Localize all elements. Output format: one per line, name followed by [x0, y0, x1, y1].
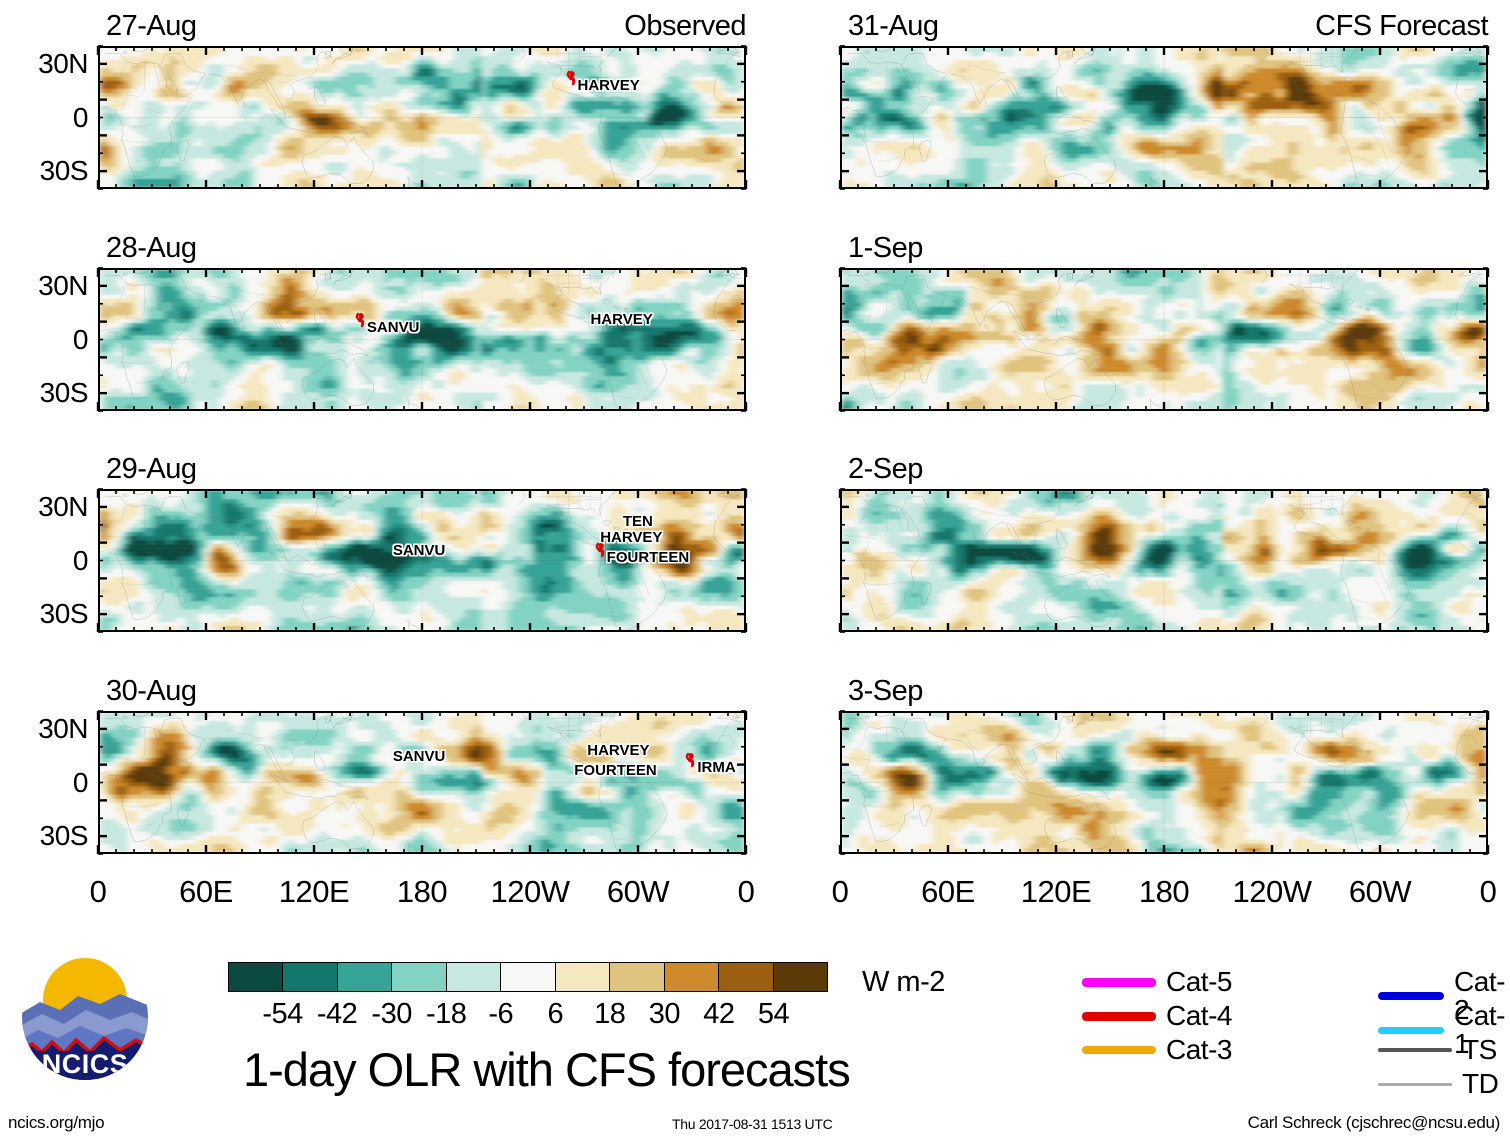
colorbar-tick-18: 18 — [594, 1000, 625, 1029]
panel-date-29-aug: 29-Aug — [106, 455, 197, 484]
x-tick-0: 0 — [738, 876, 755, 907]
legend-line-cat-5 — [1082, 978, 1156, 987]
colorbar-swatch-5 — [501, 963, 555, 991]
map-panel-27-aug — [98, 46, 746, 189]
observed-header: Observed — [98, 12, 746, 41]
legend-label-cat-4: Cat-4 — [1166, 1002, 1232, 1030]
storm-label-irma: IRMA — [697, 760, 735, 775]
colorbar-swatch-7 — [610, 963, 664, 991]
legend-label-td: TD — [1462, 1070, 1498, 1098]
legend-item-td[interactable]: TD — [1378, 1070, 1498, 1098]
storm-label-fourteen: FOURTEEN — [574, 763, 657, 778]
map-panel-1-sep — [840, 268, 1488, 411]
x-tick-60e: 60E — [921, 876, 975, 907]
colorbar-swatch-3 — [392, 963, 446, 991]
colorbar-swatch-1 — [283, 963, 337, 991]
footer-center: Thu 2017-08-31 1513 UTC — [672, 1116, 832, 1133]
storm-label-fourteen: FOURTEEN — [607, 550, 690, 565]
y-axis-label-0: 0 — [0, 769, 88, 797]
x-tick-0: 0 — [832, 876, 849, 907]
colorbar-tick--6: -6 — [488, 1000, 513, 1029]
legend-line-td — [1378, 1083, 1452, 1086]
storm-label-sanvu: SANVU — [367, 320, 420, 335]
y-axis-label-30n: 30N — [0, 715, 88, 743]
legend-label-cat-3: Cat-3 — [1166, 1036, 1232, 1064]
figure-title: 1-day OLR with CFS forecasts — [243, 1046, 850, 1093]
x-tick-120w: 120W — [1233, 876, 1312, 907]
panel-date-30-aug: 30-Aug — [106, 677, 197, 706]
legend-item-cat-5[interactable]: Cat-5 — [1082, 968, 1232, 996]
colorbar-tick-30: 30 — [649, 1000, 680, 1029]
legend-line-cat-2 — [1378, 992, 1444, 1000]
map-panel-3-sep — [840, 711, 1488, 854]
x-axis-labels: 060E120E180120W60W0 — [840, 876, 1488, 910]
y-axis-label-0: 0 — [0, 104, 88, 132]
colorbar-swatch-4 — [447, 963, 501, 991]
storm-label-harvey: HARVEY — [578, 78, 640, 93]
panel-date-1-sep: 1-Sep — [848, 234, 923, 263]
colorbar-tick-6: 6 — [547, 1000, 563, 1029]
y-axis-label-30n: 30N — [0, 50, 88, 78]
legend-line-cat-4 — [1082, 1012, 1156, 1021]
x-tick-60e: 60E — [179, 876, 233, 907]
storm-label-ten: TEN — [623, 514, 653, 529]
colorbar-swatch-8 — [665, 963, 719, 991]
x-tick-0: 0 — [90, 876, 107, 907]
legend-line-ts — [1378, 1048, 1452, 1053]
legend-line-cat-1 — [1378, 1027, 1444, 1034]
legend-label-ts: TS — [1462, 1036, 1497, 1064]
y-axis-label-30n: 30N — [0, 272, 88, 300]
colorbar — [228, 962, 828, 992]
x-tick-60w: 60W — [607, 876, 669, 907]
legend-line-cat-3 — [1082, 1046, 1156, 1054]
colorbar-tick-54: 54 — [758, 1000, 789, 1029]
y-axis-label-30n: 30N — [0, 493, 88, 521]
map-panel-31-aug — [840, 46, 1488, 189]
colorbar-swatch-0 — [229, 963, 283, 991]
legend-item-cat-3[interactable]: Cat-3 — [1082, 1036, 1232, 1064]
panel-date-2-sep: 2-Sep — [848, 455, 923, 484]
legend-label-cat-5: Cat-5 — [1166, 968, 1232, 996]
panel-date-3-sep: 3-Sep — [848, 677, 923, 706]
map-panel-30-aug — [98, 711, 746, 854]
footer-left[interactable]: ncics.org/mjo — [8, 1114, 104, 1131]
storm-label-harvey: HARVEY — [587, 743, 649, 758]
storm-label-harvey: HARVEY — [600, 530, 662, 545]
storm-label-sanvu: SANVU — [393, 543, 446, 558]
legend-item-cat-4[interactable]: Cat-4 — [1082, 1002, 1232, 1030]
x-tick-120w: 120W — [491, 876, 570, 907]
colorbar-unit: W m-2 — [862, 968, 945, 997]
colorbar-tick-42: 42 — [703, 1000, 734, 1029]
colorbar-ticks: -54-42-30-18-6618304254 — [228, 1000, 828, 1032]
ncics-logo: NCICS — [20, 952, 150, 1082]
storm-label-sanvu: SANVU — [393, 749, 446, 764]
colorbar-swatch-2 — [338, 963, 392, 991]
footer-right[interactable]: Carl Schreck (cjschrec@ncsu.edu) — [1248, 1114, 1500, 1131]
colorbar-tick--42: -42 — [317, 1000, 357, 1029]
y-axis-label-0: 0 — [0, 547, 88, 575]
y-axis-label-30s: 30S — [0, 379, 88, 407]
x-tick-120e: 120E — [1021, 876, 1091, 907]
y-axis-label-30s: 30S — [0, 157, 88, 185]
forecast-header: CFS Forecast — [840, 12, 1488, 41]
colorbar-tick--30: -30 — [371, 1000, 411, 1029]
map-panel-28-aug — [98, 268, 746, 411]
x-axis-labels: 060E120E180120W60W0 — [98, 876, 746, 910]
storm-label-harvey: HARVEY — [590, 312, 652, 327]
panel-date-28-aug: 28-Aug — [106, 234, 197, 263]
colorbar-tick--54: -54 — [262, 1000, 302, 1029]
y-axis-label-0: 0 — [0, 326, 88, 354]
x-tick-120e: 120E — [279, 876, 349, 907]
colorbar-swatch-10 — [774, 963, 827, 991]
map-panel-2-sep — [840, 489, 1488, 632]
colorbar-tick--18: -18 — [426, 1000, 466, 1029]
x-tick-60w: 60W — [1349, 876, 1411, 907]
x-tick-180: 180 — [1139, 876, 1189, 907]
colorbar-swatch-9 — [719, 963, 773, 991]
y-axis-label-30s: 30S — [0, 822, 88, 850]
colorbar-swatch-6 — [556, 963, 610, 991]
legend-item-ts[interactable]: TS — [1378, 1036, 1497, 1064]
y-axis-label-30s: 30S — [0, 600, 88, 628]
x-tick-180: 180 — [397, 876, 447, 907]
x-tick-0: 0 — [1480, 876, 1497, 907]
